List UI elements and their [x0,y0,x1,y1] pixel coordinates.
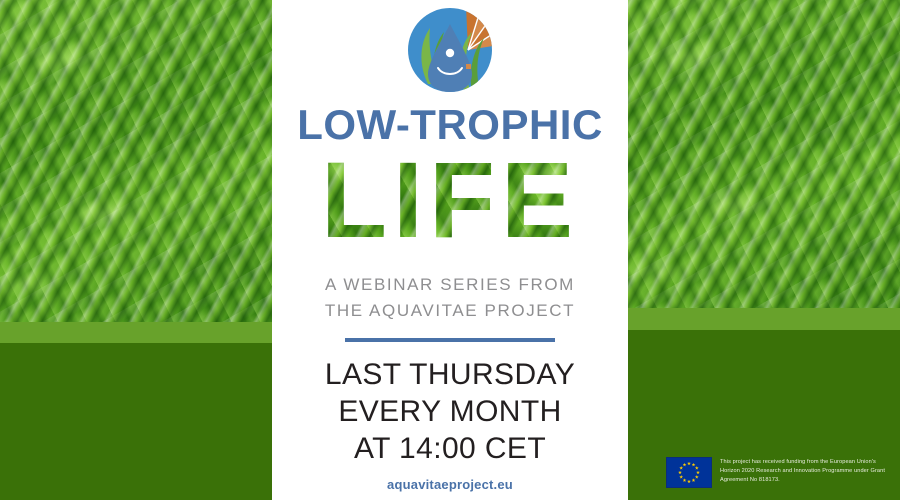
schedule-line-2: EVERY MONTH [272,393,628,430]
headline-life: LIFE [321,146,579,254]
low-trophic-life-logo-icon [406,6,494,94]
eu-funding-disclaimer: This project has received funding from t… [720,457,885,485]
eu-star [679,475,683,479]
headline-life-wrapper: LIFE [272,146,628,254]
eu-star [695,475,699,479]
dark-green-band-left [0,343,272,500]
eu-star [692,478,696,482]
light-green-band-left [0,322,272,343]
eu-star [683,478,687,482]
center-content-panel: LOW-TROPHIC LIFE A WEBINAR SERIES FROM T… [272,0,628,500]
eu-disclaimer-line-2: Horizon 2020 Research and Innovation Pro… [720,467,885,476]
eu-star [687,462,691,466]
webinar-poster: LOW-TROPHIC LIFE A WEBINAR SERIES FROM T… [0,0,900,500]
eu-star [687,480,691,484]
eu-star [695,466,699,470]
eu-disclaimer-line-1: This project has received funding from t… [720,458,885,467]
european-union-flag-icon [666,457,712,488]
schedule-block: LAST THURSDAY EVERY MONTH AT 14:00 CET [272,356,628,467]
eu-star [679,466,683,470]
subtitle: A WEBINAR SERIES FROM THE AQUAVITAE PROJ… [272,272,628,324]
eu-star [696,471,700,475]
eu-star [678,471,682,475]
subtitle-line-1: A WEBINAR SERIES FROM [272,272,628,298]
light-green-band-right [628,308,900,330]
eu-funding-badge: This project has received funding from t… [666,457,892,497]
divider-rule [345,338,555,342]
subtitle-line-2: THE AQUAVITAE PROJECT [272,298,628,324]
schedule-line-1: LAST THURSDAY [272,356,628,393]
eu-star [683,463,687,467]
schedule-line-3: AT 14:00 CET [272,430,628,467]
seaweed-photo-left [0,0,272,322]
eu-disclaimer-line-3: Agreement No 818173. [720,476,885,485]
eu-star [692,463,696,467]
project-website-url[interactable]: aquavitaeproject.eu [272,477,628,492]
seaweed-photo-right [628,0,900,308]
